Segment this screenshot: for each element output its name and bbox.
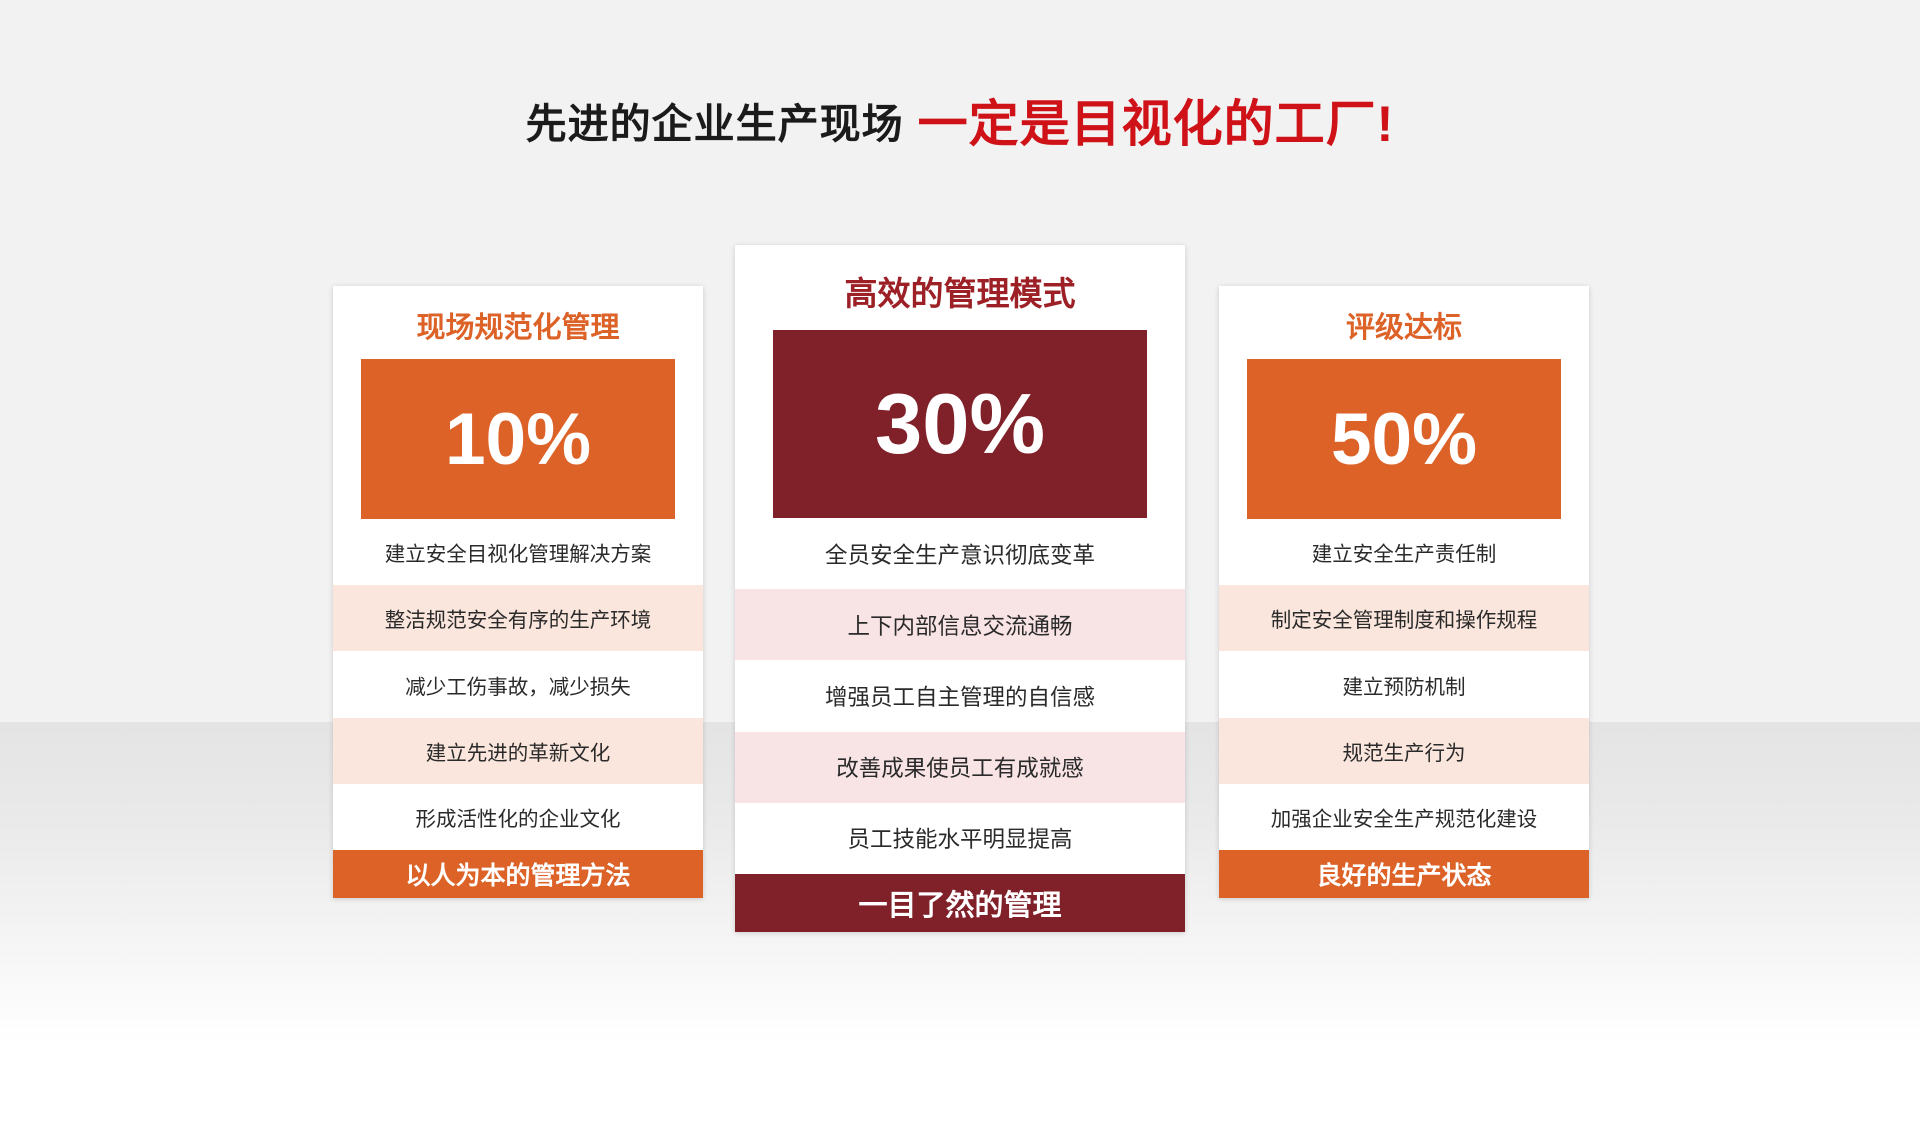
list-item[interactable]: 加强企业安全生产规范化建设 xyxy=(1219,784,1589,850)
list-item[interactable]: 建立先进的革新文化 xyxy=(333,718,703,784)
slide-stage: 先进的企业生产现场一定是目视化的工厂! 现场规范化管理 10% 建立安全目视化管… xyxy=(0,0,1920,1125)
card-left-row-list: 建立安全目视化管理解决方案 整洁规范安全有序的生产环境 减少工伤事故，减少损失 … xyxy=(333,519,703,850)
card-right-heading: 评级达标 xyxy=(1219,286,1589,359)
card-left-heading: 现场规范化管理 xyxy=(333,286,703,359)
card-center-row-list: 全员安全生产意识彻底变革 上下内部信息交流通畅 增强员工自主管理的自信感 改善成… xyxy=(735,518,1185,874)
card-right-footer: 良好的生产状态 xyxy=(1219,850,1589,898)
list-item[interactable]: 改善成果使员工有成就感 xyxy=(735,732,1185,803)
list-item[interactable]: 规范生产行为 xyxy=(1219,718,1589,784)
card-left-percent-value: 10% xyxy=(445,403,591,476)
page-title-red-part: 一定是目视化的工厂! xyxy=(918,96,1395,152)
card-center[interactable]: 高效的管理模式 30% 全员安全生产意识彻底变革 上下内部信息交流通畅 增强员工… xyxy=(735,245,1185,932)
page-title: 先进的企业生产现场一定是目视化的工厂! xyxy=(0,84,1920,156)
page-title-black-part: 先进的企业生产现场 xyxy=(526,101,904,147)
list-item[interactable]: 建立安全生产责任制 xyxy=(1219,519,1589,585)
list-item[interactable]: 建立安全目视化管理解决方案 xyxy=(333,519,703,585)
card-left[interactable]: 现场规范化管理 10% 建立安全目视化管理解决方案 整洁规范安全有序的生产环境 … xyxy=(333,286,703,898)
card-left-percent-box: 10% xyxy=(361,359,675,519)
card-center-footer: 一目了然的管理 xyxy=(735,874,1185,932)
list-item[interactable]: 制定安全管理制度和操作规程 xyxy=(1219,585,1589,651)
card-right-percent-box: 50% xyxy=(1247,359,1561,519)
list-item[interactable]: 整洁规范安全有序的生产环境 xyxy=(333,585,703,651)
card-right[interactable]: 评级达标 50% 建立安全生产责任制 制定安全管理制度和操作规程 建立预防机制 … xyxy=(1219,286,1589,898)
list-item[interactable]: 增强员工自主管理的自信感 xyxy=(735,660,1185,731)
list-item[interactable]: 减少工伤事故，减少损失 xyxy=(333,651,703,717)
list-item[interactable]: 建立预防机制 xyxy=(1219,651,1589,717)
list-item[interactable]: 上下内部信息交流通畅 xyxy=(735,589,1185,660)
card-left-footer: 以人为本的管理方法 xyxy=(333,850,703,898)
list-item[interactable]: 形成活性化的企业文化 xyxy=(333,784,703,850)
card-right-row-list: 建立安全生产责任制 制定安全管理制度和操作规程 建立预防机制 规范生产行为 加强… xyxy=(1219,519,1589,850)
list-item[interactable]: 员工技能水平明显提高 xyxy=(735,803,1185,874)
card-center-percent-box: 30% xyxy=(773,330,1147,518)
card-center-percent-value: 30% xyxy=(875,382,1045,467)
card-right-percent-value: 50% xyxy=(1331,403,1477,476)
card-center-heading: 高效的管理模式 xyxy=(735,245,1185,330)
list-item[interactable]: 全员安全生产意识彻底变革 xyxy=(735,518,1185,589)
